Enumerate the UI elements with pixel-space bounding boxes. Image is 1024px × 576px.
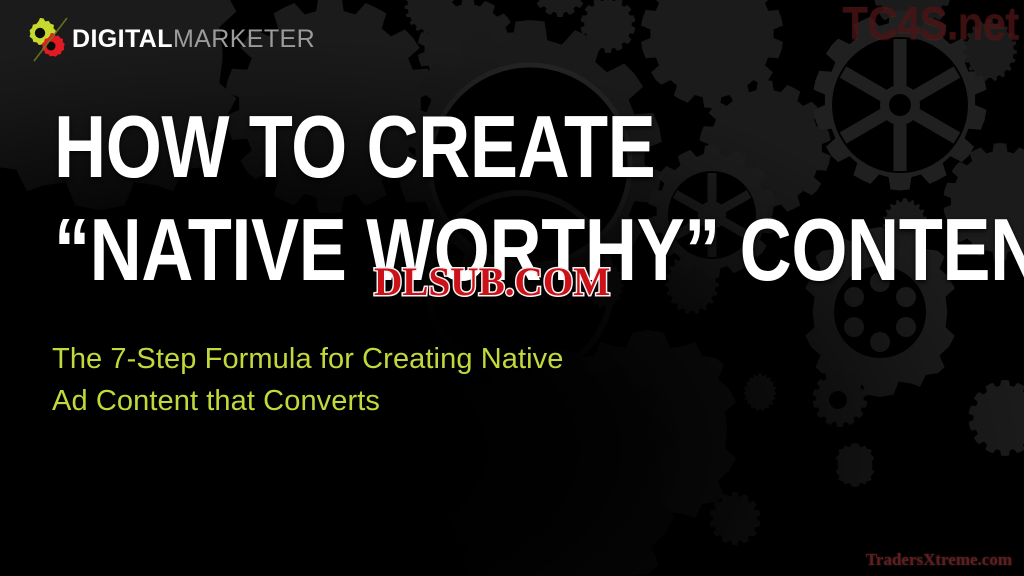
subtitle-line-1: The 7-Step Formula for Creating Native xyxy=(52,338,752,380)
watermark-tradersxtreme: TradersXtreme.com xyxy=(866,550,1012,570)
gear-logo-icon xyxy=(18,16,74,62)
logo-word-marketer: MARKETER xyxy=(173,25,315,53)
slide-subtitle: The 7-Step Formula for Creating Native A… xyxy=(52,338,752,422)
watermark-dlsub: DLSUB.COM xyxy=(374,258,610,305)
subtitle-line-2: Ad Content that Converts xyxy=(52,380,752,422)
logo-word-digital: DIGITAL xyxy=(72,25,173,53)
logo-wordmark: DIGITALMARKETER xyxy=(72,27,315,52)
watermark-tc4s: TC4S.net xyxy=(842,0,1018,50)
headline-line-1: HOW TO CREATE xyxy=(54,104,817,189)
presentation-slide: DIGITALMARKETER HOW TO CREATE “NATIVE WO… xyxy=(0,0,1024,576)
digitalmarketer-logo[interactable]: DIGITALMARKETER xyxy=(18,16,315,62)
